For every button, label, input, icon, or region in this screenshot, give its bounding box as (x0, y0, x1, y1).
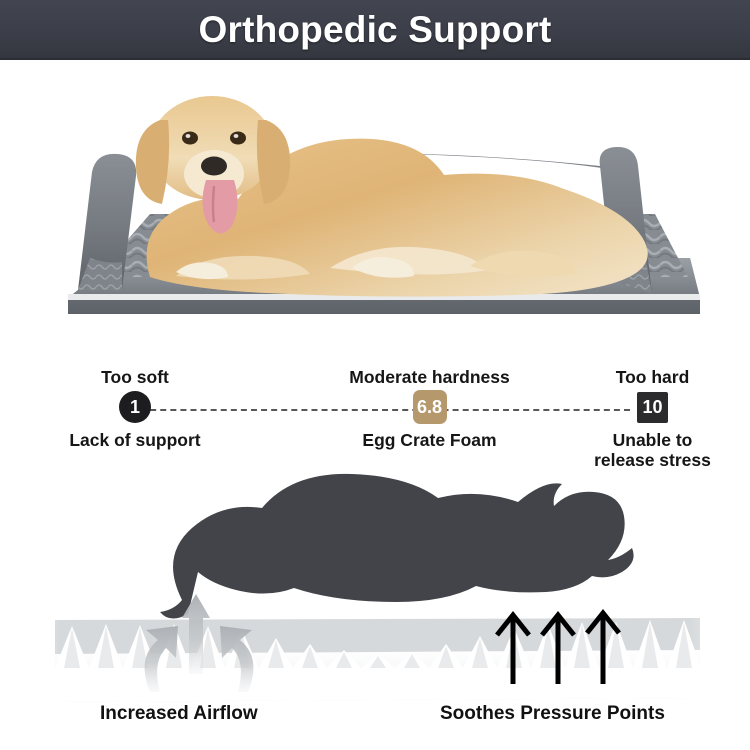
scale-point-too-hard: Too hard 10 Unable to release stress (565, 368, 740, 471)
header-banner: Orthopedic Support (0, 0, 750, 60)
pressure-arrows (497, 613, 619, 684)
scale-marker-1: 1 (119, 391, 151, 423)
airflow-label: Increased Airflow (100, 703, 258, 725)
scale-marker-10: 10 (637, 392, 668, 423)
infographic-page: Orthopedic Support (0, 0, 750, 750)
scale-marker-6-8: 6.8 (413, 390, 447, 424)
hardness-scale: Too soft 1 Lack of support Moderate hard… (0, 358, 750, 470)
pressure-points-label: Soothes Pressure Points (440, 703, 665, 725)
scale-point-too-soft: Too soft 1 Lack of support (40, 368, 230, 450)
dog-on-bed-illustration (0, 62, 750, 352)
scale-top-label-moderate: Moderate hardness (307, 368, 552, 387)
scale-bottom-label-moderate: Egg Crate Foam (307, 430, 552, 450)
scale-bottom-label-too-hard-line1: Unable to (565, 430, 740, 450)
product-photo (0, 62, 750, 352)
scale-point-moderate: Moderate hardness 6.8 Egg Crate Foam (307, 368, 552, 450)
page-title: Orthopedic Support (198, 11, 551, 48)
scale-top-label-too-soft: Too soft (40, 368, 230, 387)
scale-top-label-too-hard: Too hard (565, 368, 740, 387)
scale-bottom-label-too-soft: Lack of support (40, 430, 230, 450)
